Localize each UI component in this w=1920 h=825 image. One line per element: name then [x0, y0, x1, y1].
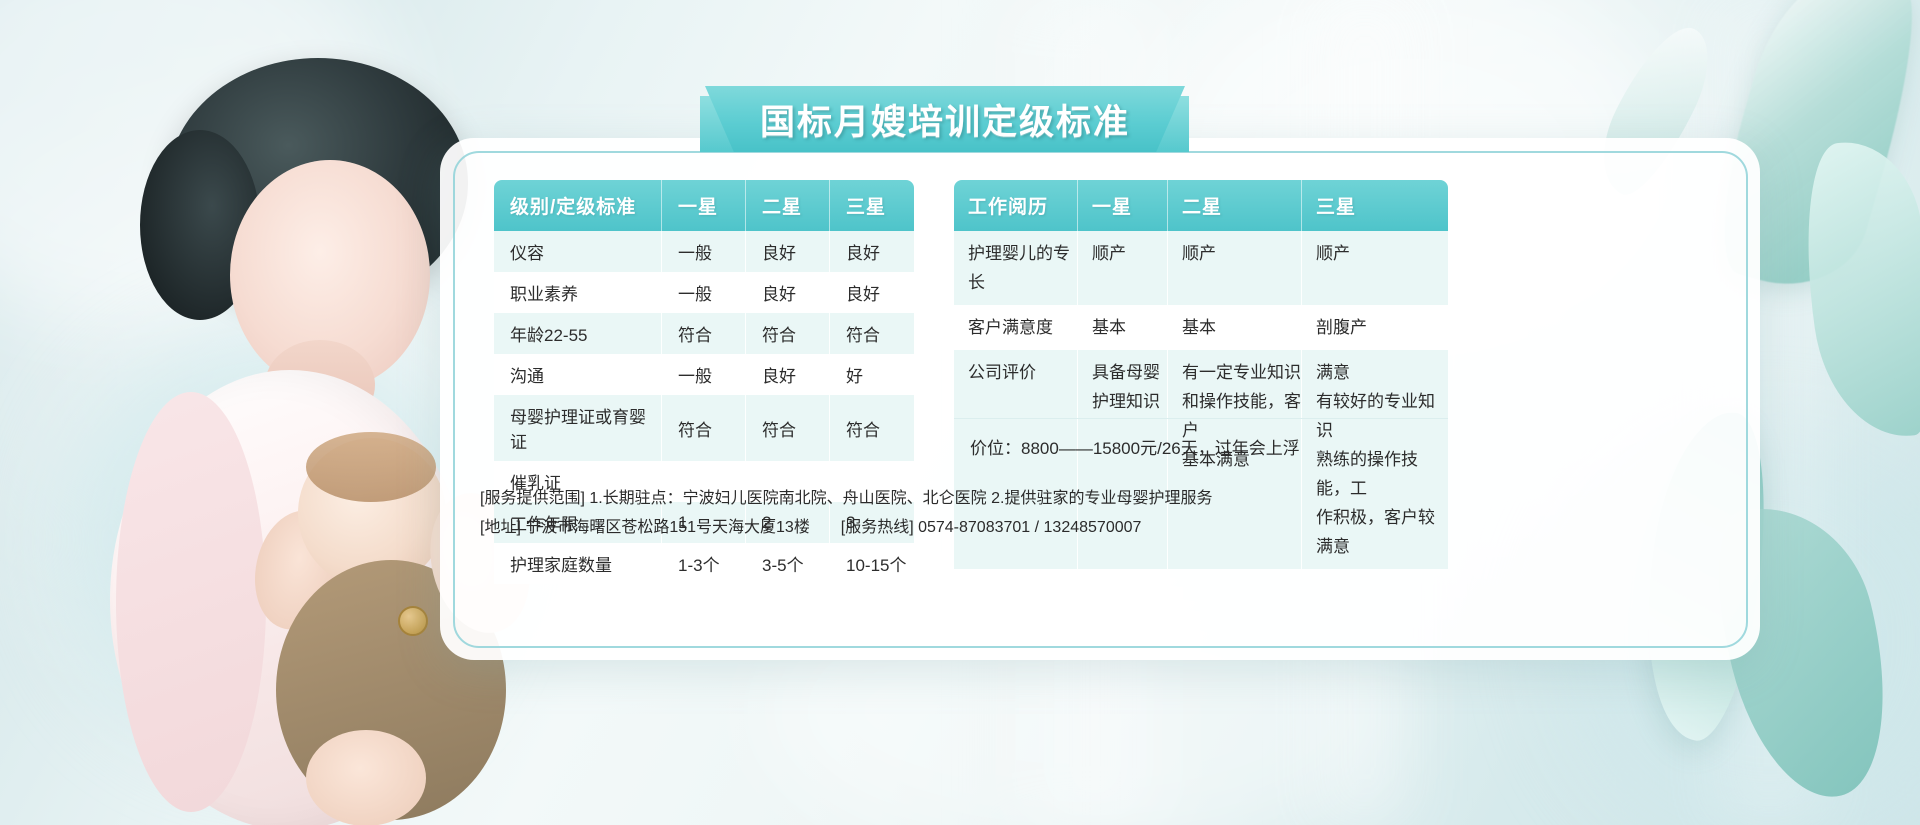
row-value-cell: 10-15个	[830, 543, 914, 584]
overall-button-icon	[398, 606, 428, 636]
row-value-cell: 良好	[830, 272, 914, 313]
col-header-two-star: 二星	[746, 180, 830, 231]
row-value-cell: 顺产	[1078, 231, 1168, 305]
row-value-cell: 符合	[830, 395, 914, 461]
row-label-cell: 母婴护理证或育婴证	[494, 395, 662, 461]
row-value-cell: 良好	[746, 354, 830, 395]
row-value-cell: 良好	[746, 272, 830, 313]
row-value-cell: 3-5个	[746, 543, 830, 584]
cell-line: 护理知识	[1092, 387, 1167, 416]
row-label-cell: 年龄22-55	[494, 313, 662, 354]
row-value-cell: 符合	[746, 395, 830, 461]
table-header-row: 工作阅历 一星 二星 三星	[954, 180, 1448, 231]
table-row: 仪容一般良好良好	[494, 231, 914, 272]
table-row: 客户满意度基本基本剖腹产	[954, 305, 1448, 350]
row-label-cell: 护理婴儿的专长	[954, 231, 1078, 305]
row-value-cell: 符合	[830, 313, 914, 354]
service-scope-note: [服务提供范围] 1.长期驻点：宁波妇儿医院南北院、舟山医院、北仑医院 2.提供…	[480, 484, 1212, 508]
col-header-one-star: 一星	[1078, 180, 1168, 231]
row-value-cell: 剖腹产	[1302, 305, 1448, 350]
col-header-three-star: 三星	[830, 180, 914, 231]
table-row: 职业素养一般良好良好	[494, 272, 914, 313]
table-row: 护理家庭数量1-3个3-5个10-15个	[494, 543, 914, 584]
hotline-text: [服务热线] 0574-87083701 / 13248570007	[841, 519, 1142, 536]
caregiver-coat-lapel	[116, 392, 266, 812]
table-row: 年龄22-55符合符合符合	[494, 313, 914, 354]
cell-line: 作积极，客户较满意	[1316, 503, 1448, 561]
address-and-hotline-note: [地址] 宁波市海曙区苍松路151号天海大厦13楼 [服务热线] 0574-87…	[480, 513, 1141, 537]
row-value-cell: 1-3个	[662, 543, 746, 584]
row-value-cell: 符合	[746, 313, 830, 354]
row-label-cell: 职业素养	[494, 272, 662, 313]
table-row: 护理婴儿的专长顺产顺产顺产	[954, 231, 1448, 305]
row-value-cell: 基本	[1078, 305, 1168, 350]
row-value-cell: 良好	[746, 231, 830, 272]
row-value-cell: 好	[830, 354, 914, 395]
table-row: 母婴护理证或育婴证符合符合符合	[494, 395, 914, 461]
page-title: 国标月嫂培训定级标准	[705, 86, 1185, 152]
caregiver-hand	[306, 730, 426, 825]
table-row: 沟通一般良好好	[494, 354, 914, 395]
cell-line: 有一定专业知识	[1182, 358, 1301, 387]
col-header-experience: 工作阅历	[954, 180, 1078, 231]
cell-line: 满意	[1316, 358, 1448, 387]
row-label-cell: 客户满意度	[954, 305, 1078, 350]
col-header-one-star: 一星	[662, 180, 746, 231]
cell-line: 具备母婴	[1092, 358, 1167, 387]
row-value-cell: 良好	[830, 231, 914, 272]
price-note: 价位：8800——15800元/26天，过年会上浮	[954, 418, 1448, 474]
row-label-cell: 护理家庭数量	[494, 543, 662, 584]
poster-canvas: 国标月嫂培训定级标准 级别/定级标准 一星 二星 三星 仪容一般良好良好职业素养…	[0, 0, 1920, 825]
row-value-cell: 一般	[662, 354, 746, 395]
row-value-cell: 符合	[662, 313, 746, 354]
col-header-three-star: 三星	[1302, 180, 1448, 231]
baby-hair	[306, 432, 436, 502]
col-header-criteria: 级别/定级标准	[494, 180, 662, 231]
row-label-cell: 沟通	[494, 354, 662, 395]
row-value-cell: 顺产	[1302, 231, 1448, 305]
row-label-cell: 仪容	[494, 231, 662, 272]
row-value-cell: 基本	[1168, 305, 1302, 350]
row-value-cell: 顺产	[1168, 231, 1302, 305]
address-text: [地址] 宁波市海曙区苍松路151号天海大厦13楼	[480, 519, 810, 536]
row-value-cell: 一般	[662, 272, 746, 313]
row-value-cell: 符合	[662, 395, 746, 461]
col-header-two-star: 二星	[1168, 180, 1302, 231]
work-experience-table: 工作阅历 一星 二星 三星 护理婴儿的专长顺产顺产顺产客户满意度基本基本剖腹产公…	[954, 180, 1448, 569]
row-value-cell: 一般	[662, 231, 746, 272]
table-header-row: 级别/定级标准 一星 二星 三星	[494, 180, 914, 231]
